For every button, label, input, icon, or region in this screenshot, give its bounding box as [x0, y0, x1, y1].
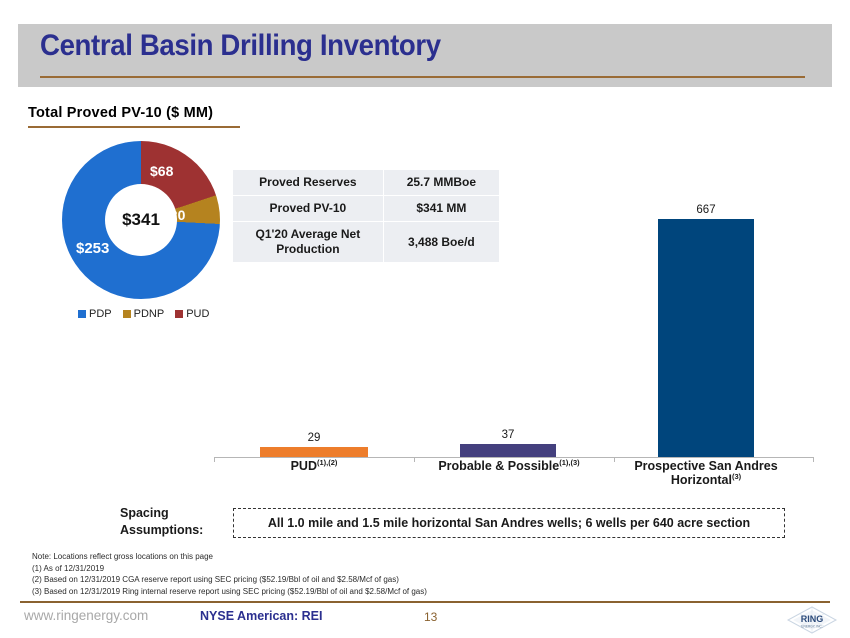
section-label-pv10: Total Proved PV-10 ($ MM)	[28, 105, 213, 121]
bar-value-label: 29	[308, 432, 321, 444]
bar-chart-category-labels: PUD(1),(2) Probable & Possible(1),(3) Pr…	[214, 459, 814, 501]
bar-chart-locations: 29 37 667	[214, 186, 814, 458]
footnote-ref: (1),(3)	[559, 458, 579, 467]
svg-text:RING: RING	[801, 614, 824, 624]
page-number: 13	[424, 610, 437, 624]
bar-column-pud: 29	[260, 432, 368, 457]
bar-category-text: Prospective San Andres Horizontal	[634, 459, 777, 488]
bar-category-probable-possible: Probable & Possible(1),(3)	[424, 459, 594, 474]
bar-value-label: 37	[502, 429, 515, 441]
legend-swatch-pud	[175, 310, 183, 318]
donut-chart-pv10: $341 $68 $20 $253	[62, 141, 220, 299]
donut-slice-label-pud: $68	[150, 163, 173, 179]
page-title: Central Basin Drilling Inventory	[40, 29, 441, 63]
legend-swatch-pdp	[78, 310, 86, 318]
footnote-2: (2) Based on 12/31/2019 CGA reserve repo…	[32, 574, 427, 586]
ring-energy-logo: RING ENERGY, INC.	[786, 606, 838, 634]
footnote-ref: (1),(2)	[317, 458, 337, 467]
bar-chart-axis	[214, 457, 814, 458]
bar-category-prospective-san-andres: Prospective San Andres Horizontal(3)	[626, 459, 786, 488]
footnotes: Note: Locations reflect gross locations …	[32, 551, 427, 597]
legend-item-pdnp: PDNP	[123, 308, 165, 320]
legend-label-pdnp: PDNP	[134, 308, 165, 320]
legend-item-pdp: PDP	[78, 308, 112, 320]
section-label-underline	[28, 126, 240, 128]
footnote-note: Note: Locations reflect gross locations …	[32, 551, 427, 563]
bar-rect-prospective-san-andres	[658, 219, 754, 457]
donut-slice-label-pdnp: $20	[162, 207, 185, 223]
legend-item-pud: PUD	[175, 308, 209, 320]
bar-rect-pud	[260, 447, 368, 457]
bar-category-pud: PUD(1),(2)	[234, 459, 394, 474]
bar-column-probable-possible: 37	[460, 429, 556, 457]
footer-divider	[20, 601, 830, 603]
bar-category-text: Probable & Possible	[438, 459, 559, 473]
spacing-assumptions-text: All 1.0 mile and 1.5 mile horizontal San…	[268, 516, 750, 530]
spacing-assumptions-box: All 1.0 mile and 1.5 mile horizontal San…	[233, 508, 785, 538]
legend-swatch-pdnp	[123, 310, 131, 318]
svg-text:ENERGY, INC.: ENERGY, INC.	[801, 625, 822, 629]
footer-ticker: NYSE American: REI	[200, 609, 323, 623]
donut-slice-label-pdp: $253	[76, 240, 109, 257]
footer-website[interactable]: www.ringenergy.com	[24, 608, 148, 623]
legend-label-pud: PUD	[186, 308, 209, 320]
bar-value-label: 667	[696, 204, 715, 216]
bar-column-prospective-san-andres: 667	[658, 204, 754, 457]
legend-label-pdp: PDP	[89, 308, 112, 320]
footnote-1: (1) As of 12/31/2019	[32, 563, 427, 575]
donut-center-total: $341	[122, 210, 160, 230]
donut-legend: PDP PDNP PUD	[78, 308, 209, 320]
footnote-3: (3) Based on 12/31/2019 Ring internal re…	[32, 586, 427, 598]
spacing-assumptions-label: Spacing Assumptions:	[120, 505, 230, 539]
footnote-ref: (3)	[732, 472, 741, 481]
header-divider	[40, 76, 805, 78]
bar-rect-probable-possible	[460, 444, 556, 457]
bar-category-text: PUD	[291, 459, 317, 473]
